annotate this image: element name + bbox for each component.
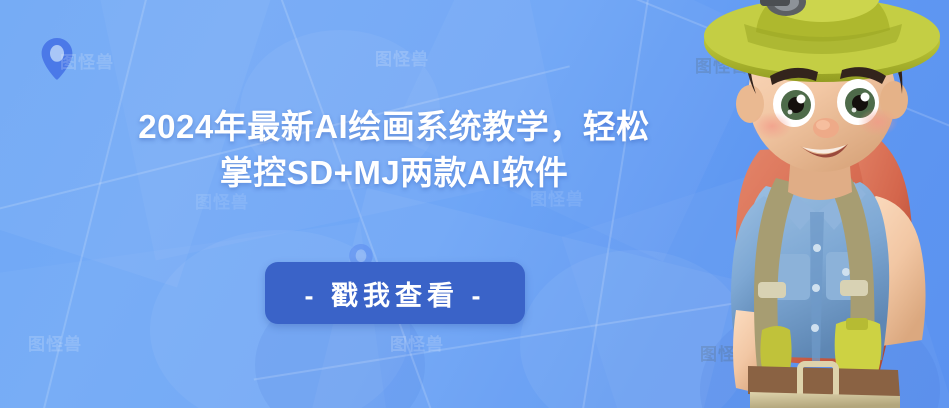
watermark: 图怪兽 [60,48,114,73]
headline-line-1: 2024年最新AI绘画系统教学，轻松 [64,104,724,150]
promo-banner: 图怪兽 图怪兽 图怪兽 图怪兽 图怪兽 图怪兽 图怪兽 图怪兽 2024年最新A… [0,0,949,408]
headline: 2024年最新AI绘画系统教学，轻松 掌控SD+MJ两款AI软件 [64,104,724,196]
character-illustration [640,0,949,408]
watermark: 图怪兽 [28,330,82,355]
watermark: 图怪兽 [375,45,429,70]
cta-button[interactable]: - 戳我查看 - [265,262,525,324]
headline-line-2: 掌控SD+MJ两款AI软件 [64,150,724,196]
cta-button-label: - 戳我查看 - [305,274,486,313]
watermark: 图怪兽 [390,330,444,355]
explorer-boy-figure [640,0,949,408]
